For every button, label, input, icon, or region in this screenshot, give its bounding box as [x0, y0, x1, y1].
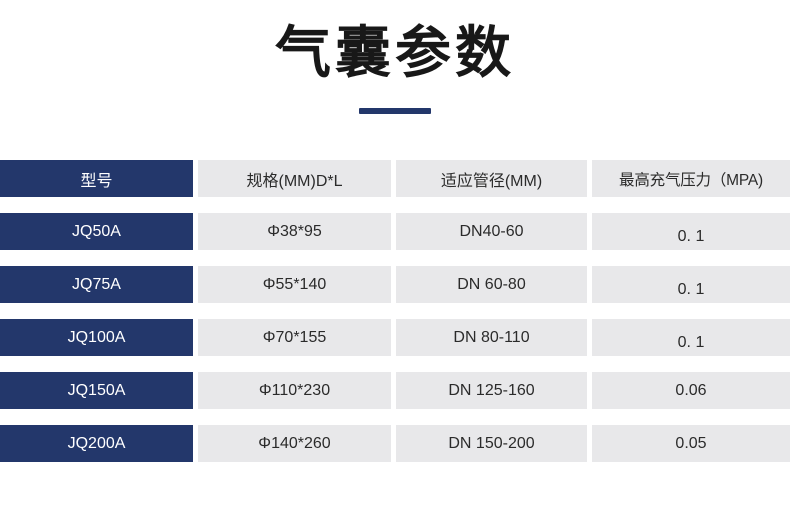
- cell-spec: Φ140*260: [198, 425, 391, 462]
- table-row: JQ50A Φ38*95 DN40-60 0. 1: [0, 213, 790, 250]
- cell-max-pressure-value: 0. 1: [678, 281, 705, 299]
- cell-max-pressure: 0. 1: [592, 319, 790, 356]
- cell-max-pressure: 0. 1: [592, 213, 790, 250]
- column-header-max-pressure: 最高充气压力（MPA): [592, 160, 790, 197]
- cell-spec: Φ38*95: [198, 213, 391, 250]
- table-row: JQ150A Φ110*230 DN 125-160 0.06: [0, 372, 790, 409]
- column-header-model: 型号: [0, 160, 193, 197]
- table-header-row: 型号 规格(MM)D*L 适应管径(MM) 最高充气压力（MPA): [0, 160, 790, 197]
- cell-max-pressure: 0.05: [592, 425, 790, 462]
- table-row: JQ200A Φ140*260 DN 150-200 0.05: [0, 425, 790, 462]
- cell-max-pressure: 0.06: [592, 372, 790, 409]
- cell-model: JQ150A: [0, 372, 193, 409]
- cell-max-pressure-value: 0. 1: [678, 228, 705, 246]
- cell-spec: Φ55*140: [198, 266, 391, 303]
- table-row: JQ75A Φ55*140 DN 60-80 0. 1: [0, 266, 790, 303]
- cell-model: JQ50A: [0, 213, 193, 250]
- cell-pipe-diameter: DN 150-200: [396, 425, 587, 462]
- cell-pipe-diameter: DN 125-160: [396, 372, 587, 409]
- column-header-spec: 规格(MM)D*L: [198, 160, 391, 197]
- cell-spec: Φ110*230: [198, 372, 391, 409]
- parameter-table: 型号 规格(MM)D*L 适应管径(MM) 最高充气压力（MPA) JQ50A …: [0, 160, 790, 478]
- cell-max-pressure: 0. 1: [592, 266, 790, 303]
- cell-spec: Φ70*155: [198, 319, 391, 356]
- cell-model: JQ75A: [0, 266, 193, 303]
- title-block: 气囊参数: [0, 0, 790, 114]
- table-row: JQ100A Φ70*155 DN 80-110 0. 1: [0, 319, 790, 356]
- cell-max-pressure-value: 0. 1: [678, 334, 705, 352]
- cell-model: JQ100A: [0, 319, 193, 356]
- cell-pipe-diameter: DN 60-80: [396, 266, 587, 303]
- column-header-pipe-diameter: 适应管径(MM): [396, 160, 587, 197]
- page-title: 气囊参数: [0, 22, 790, 86]
- title-divider: [359, 108, 431, 114]
- cell-pipe-diameter: DN 80-110: [396, 319, 587, 356]
- cell-model: JQ200A: [0, 425, 193, 462]
- cell-pipe-diameter: DN40-60: [396, 213, 587, 250]
